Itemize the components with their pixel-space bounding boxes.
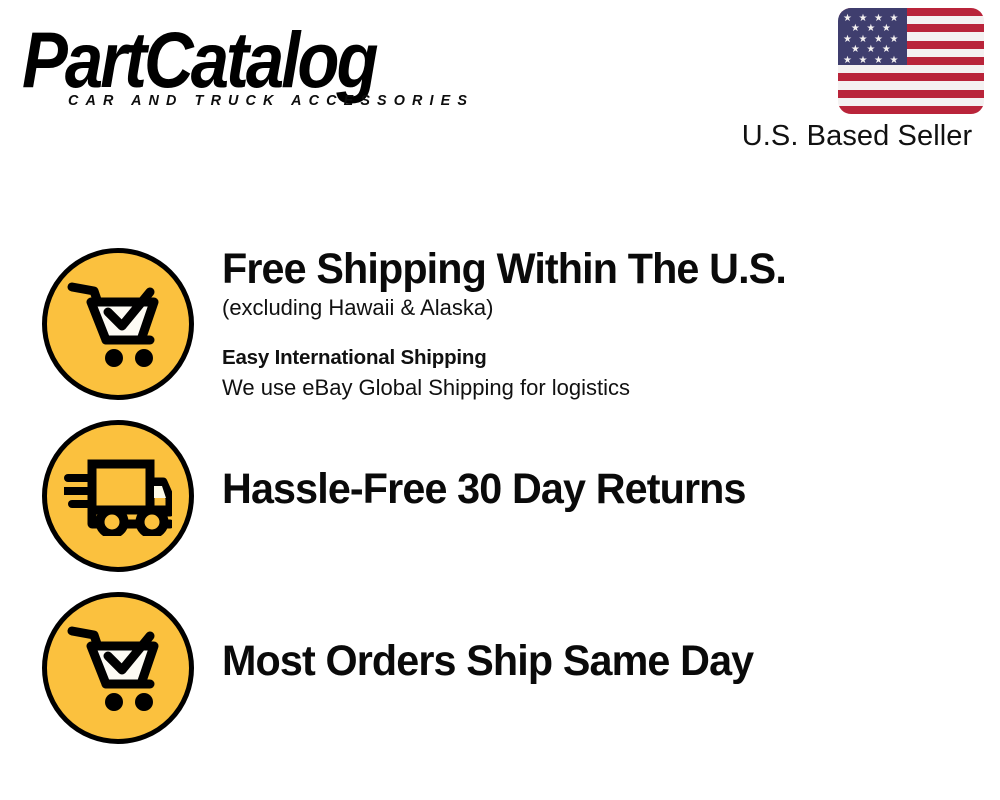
spacer bbox=[222, 323, 982, 343]
feature-list: Free Shipping Within The U.S. (excluding… bbox=[0, 0, 1000, 800]
shopping-cart-check-icon bbox=[42, 592, 194, 744]
feature-text-block: Most Orders Ship Same Day bbox=[222, 637, 982, 685]
feature-item: Free Shipping Within The U.S. (excluding… bbox=[0, 245, 1000, 405]
delivery-truck-icon bbox=[42, 420, 194, 572]
feature-subline: Easy International Shipping bbox=[222, 343, 982, 373]
feature-heading: Hassle-Free 30 Day Returns bbox=[222, 465, 952, 513]
feature-item: Hassle-Free 30 Day Returns bbox=[0, 417, 1000, 577]
feature-heading: Free Shipping Within The U.S. bbox=[222, 245, 952, 293]
feature-subline: We use eBay Global Shipping for logistic… bbox=[222, 373, 982, 403]
feature-text-block: Free Shipping Within The U.S. (excluding… bbox=[222, 245, 982, 403]
feature-text-block: Hassle-Free 30 Day Returns bbox=[222, 465, 982, 513]
feature-item: Most Orders Ship Same Day bbox=[0, 589, 1000, 749]
feature-subline: (excluding Hawaii & Alaska) bbox=[222, 293, 982, 323]
shopping-cart-check-icon bbox=[42, 248, 194, 400]
feature-heading: Most Orders Ship Same Day bbox=[222, 637, 952, 685]
